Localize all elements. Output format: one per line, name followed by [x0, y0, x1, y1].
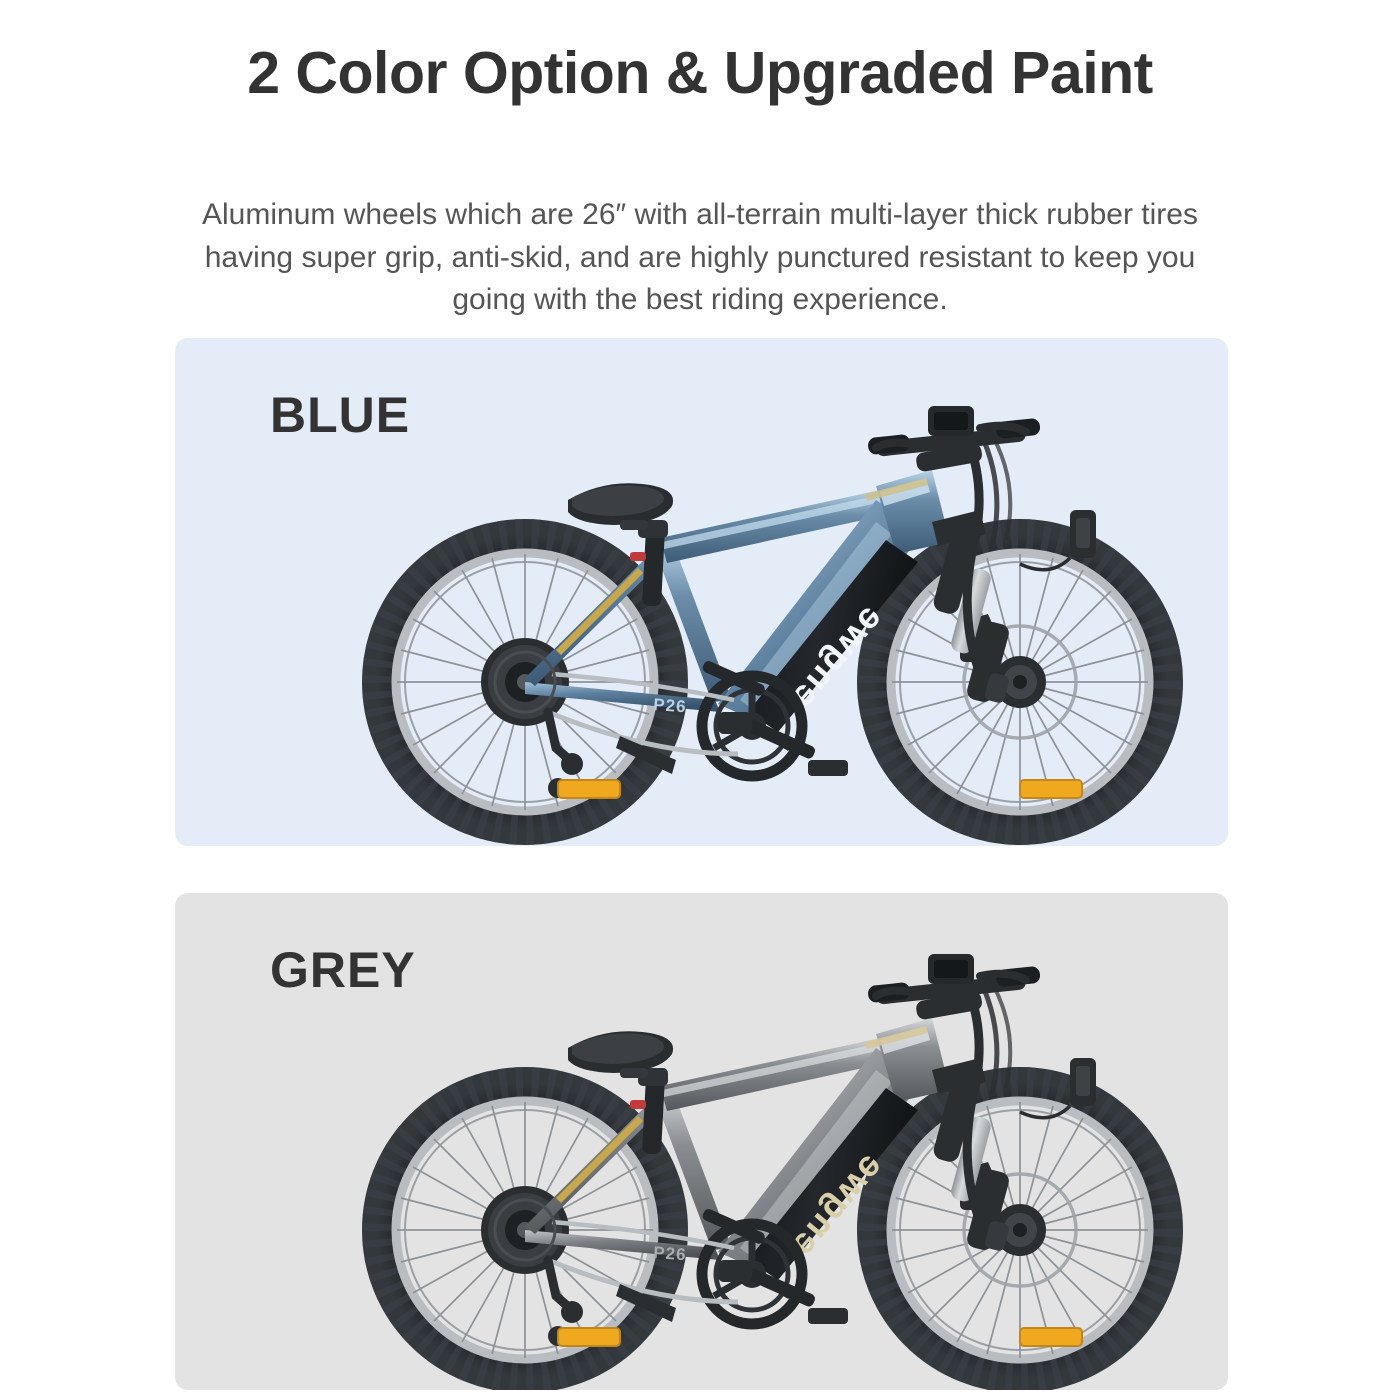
- color-option-blue-panel[interactable]: BLUE: [175, 338, 1228, 846]
- rear-reflector: [558, 1328, 620, 1346]
- model-badge-text: P26: [653, 695, 687, 716]
- ebike-illustration-grey: engwe P26: [320, 930, 1220, 1390]
- model-badge-text: P26: [653, 1243, 687, 1264]
- ebike-illustration-blue: engwe P26: [320, 382, 1220, 846]
- front-reflector: [1020, 1328, 1082, 1346]
- rear-reflector: [558, 780, 620, 798]
- page-title: 2 Color Option & Upgraded Paint: [180, 42, 1220, 106]
- color-option-grey-panel[interactable]: GREY: [175, 893, 1228, 1390]
- front-reflector: [1020, 780, 1082, 798]
- bike-image-grey: engwe P26: [320, 930, 1220, 1390]
- bike-image-blue: engwe P26: [320, 382, 1220, 846]
- page-description: Aluminum wheels which are 26″ with all-t…: [192, 194, 1208, 322]
- product-feature-page: 2 Color Option & Upgraded Paint Aluminum…: [0, 0, 1400, 1400]
